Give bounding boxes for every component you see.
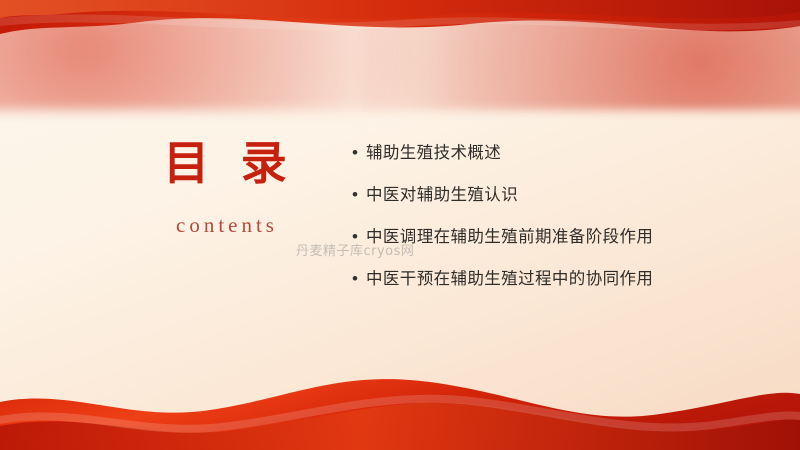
bullet-dot-icon: • bbox=[352, 140, 366, 166]
list-item-label: 中医干预在辅助生殖过程中的协同作用 bbox=[366, 266, 720, 292]
list-item: • 辅助生殖技术概述 bbox=[352, 140, 720, 166]
page-title: 目 录 bbox=[110, 138, 340, 191]
list-item-label: 中医对辅助生殖认识 bbox=[366, 182, 720, 208]
list-item-label: 辅助生殖技术概述 bbox=[366, 140, 720, 166]
toc-title-block: 目 录 contents bbox=[110, 138, 340, 238]
page-subtitle: contents bbox=[110, 213, 340, 238]
list-item: • 中医对辅助生殖认识 bbox=[352, 182, 720, 208]
bullet-dot-icon: • bbox=[352, 266, 366, 292]
list-item: • 中医调理在辅助生殖前期准备阶段作用 bbox=[352, 224, 720, 250]
toc-list: • 辅助生殖技术概述 • 中医对辅助生殖认识 • 中医调理在辅助生殖前期准备阶段… bbox=[352, 140, 720, 308]
list-item-label: 中医调理在辅助生殖前期准备阶段作用 bbox=[366, 224, 720, 250]
bullet-dot-icon: • bbox=[352, 224, 366, 250]
slide-canvas: 目 录 contents • 辅助生殖技术概述 • 中医对辅助生殖认识 • 中医… bbox=[0, 0, 800, 450]
slide-content: 目 录 contents • 辅助生殖技术概述 • 中医对辅助生殖认识 • 中医… bbox=[0, 0, 800, 450]
bullet-dot-icon: • bbox=[352, 182, 366, 208]
list-item: • 中医干预在辅助生殖过程中的协同作用 bbox=[352, 266, 720, 292]
